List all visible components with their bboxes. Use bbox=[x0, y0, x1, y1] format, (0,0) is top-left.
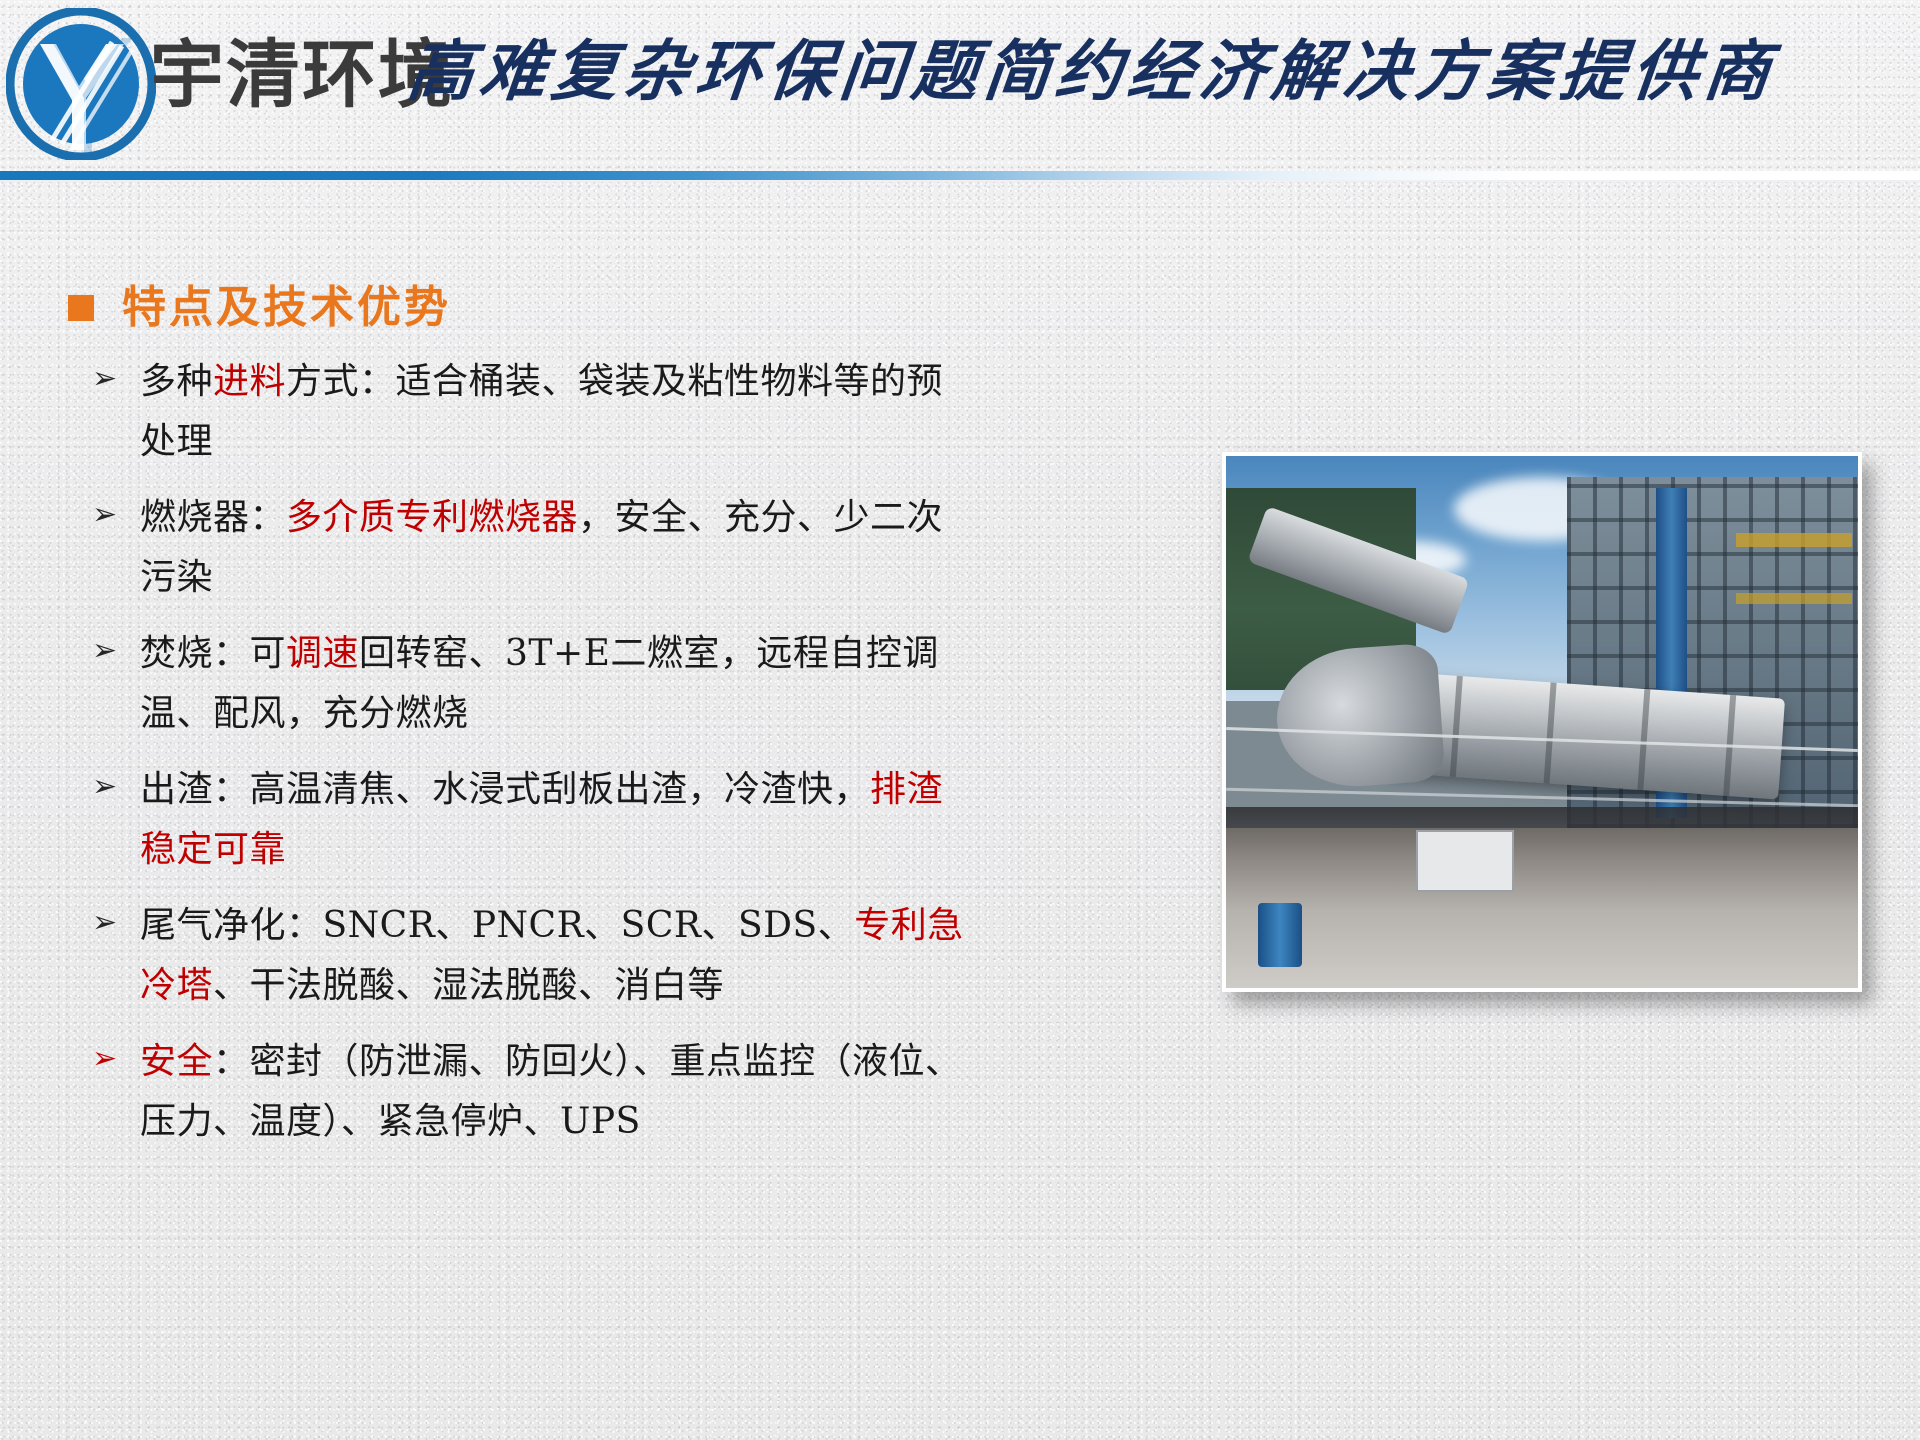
photo-concrete-ground bbox=[1226, 828, 1858, 988]
bullet-plain-text: 尾气净化：SNCR、PNCR、SCR、SDS、 bbox=[140, 905, 854, 946]
chevron-right-bullet-icon: ➢ bbox=[84, 1032, 140, 1086]
header-divider-rule bbox=[0, 171, 1920, 180]
bullet-highlight-text: 多介质专利燃烧器 bbox=[286, 497, 578, 538]
bullet-item-6: ➢安全：密封（防泄漏、防回火）、重点监控（液位、压力、温度）、紧急停炉、UPS bbox=[84, 1032, 974, 1152]
bullet-plain-text: 焚烧：可 bbox=[140, 633, 286, 674]
slide-header: 宇清环境 高难复杂环保问题简约经济解决方案提供商 bbox=[0, 0, 1920, 172]
bullet-item-text: 尾气净化：SNCR、PNCR、SCR、SDS、专利急冷塔、干法脱酸、湿法脱酸、消… bbox=[140, 896, 974, 1016]
bullet-item-5: ➢尾气净化：SNCR、PNCR、SCR、SDS、专利急冷塔、干法脱酸、湿法脱酸、… bbox=[84, 896, 974, 1016]
orange-square-bullet-icon bbox=[68, 295, 94, 321]
chevron-right-bullet-icon: ➢ bbox=[84, 760, 140, 814]
incineration-plant-rotary-kiln-photo bbox=[1226, 456, 1858, 988]
bullet-item-text: 安全：密封（防泄漏、防回火）、重点监控（液位、压力、温度）、紧急停炉、UPS bbox=[140, 1032, 974, 1152]
photo-kiln-band bbox=[1450, 676, 1463, 777]
bullet-plain-text: 、干法脱酸、湿法脱酸、消白等 bbox=[213, 965, 724, 1006]
chevron-right-bullet-icon: ➢ bbox=[84, 488, 140, 542]
bullet-plain-text: 多种 bbox=[140, 361, 213, 402]
bullet-item-4: ➢出渣：高温清焦、水浸式刮板出渣，冷渣快，排渣稳定可靠 bbox=[84, 760, 974, 880]
bullet-item-text: 多种进料方式：适合桶装、袋装及粘性物料等的预处理 bbox=[140, 352, 974, 472]
chevron-right-bullet-icon: ➢ bbox=[84, 896, 140, 950]
bullet-item-3: ➢焚烧：可调速回转窑、3T+E二燃室，远程自控调温、配风，充分燃烧 bbox=[84, 624, 974, 744]
bullet-item-2: ➢燃烧器：多介质专利燃烧器，安全、充分、少二次污染 bbox=[84, 488, 974, 608]
photo-kiln-band bbox=[1544, 682, 1557, 783]
bullet-item-text: 燃烧器：多介质专利燃烧器，安全、充分、少二次污染 bbox=[140, 488, 974, 608]
bullet-highlight-text: 安全 bbox=[140, 1041, 213, 1082]
photo-blue-drum bbox=[1258, 903, 1302, 967]
feature-bullet-list: ➢多种进料方式：适合桶装、袋装及粘性物料等的预处理➢燃烧器：多介质专利燃烧器，安… bbox=[84, 352, 974, 1168]
bullet-plain-text: 出渣：高温清焦、水浸式刮板出渣，冷渣快， bbox=[140, 769, 870, 810]
section-heading-label: 特点及技术优势 bbox=[122, 286, 451, 330]
bullet-plain-text: ：密封（防泄漏、防回火）、重点监控（液位、压力、温度）、紧急停炉、UPS bbox=[140, 1041, 962, 1142]
photo-yellow-platform bbox=[1736, 593, 1852, 604]
slide-canvas: 宇清环境 高难复杂环保问题简约经济解决方案提供商 特点及技术优势 ➢多种进料方式… bbox=[0, 0, 1920, 1440]
yuqing-circular-logo-icon bbox=[6, 8, 156, 160]
bullet-highlight-text: 调速 bbox=[286, 633, 359, 674]
bullet-item-text: 焚烧：可调速回转窑、3T+E二燃室，远程自控调温、配风，充分燃烧 bbox=[140, 624, 974, 744]
incineration-plant-photo-frame bbox=[1222, 452, 1862, 992]
company-tagline: 高难复杂环保问题简约经济解决方案提供商 bbox=[405, 38, 1780, 104]
photo-yellow-platform bbox=[1736, 533, 1852, 547]
chevron-right-bullet-icon: ➢ bbox=[84, 624, 140, 678]
section-heading: 特点及技术优势 bbox=[68, 286, 451, 330]
bullet-item-1: ➢多种进料方式：适合桶装、袋装及粘性物料等的预处理 bbox=[84, 352, 974, 472]
bullet-item-text: 出渣：高温清焦、水浸式刮板出渣，冷渣快，排渣稳定可靠 bbox=[140, 760, 974, 880]
chevron-right-bullet-icon: ➢ bbox=[84, 352, 140, 406]
bullet-plain-text: 燃烧器： bbox=[140, 497, 286, 538]
photo-kiln-band bbox=[1637, 689, 1650, 790]
bullet-highlight-text: 进料 bbox=[213, 361, 286, 402]
photo-control-panel bbox=[1416, 830, 1515, 893]
